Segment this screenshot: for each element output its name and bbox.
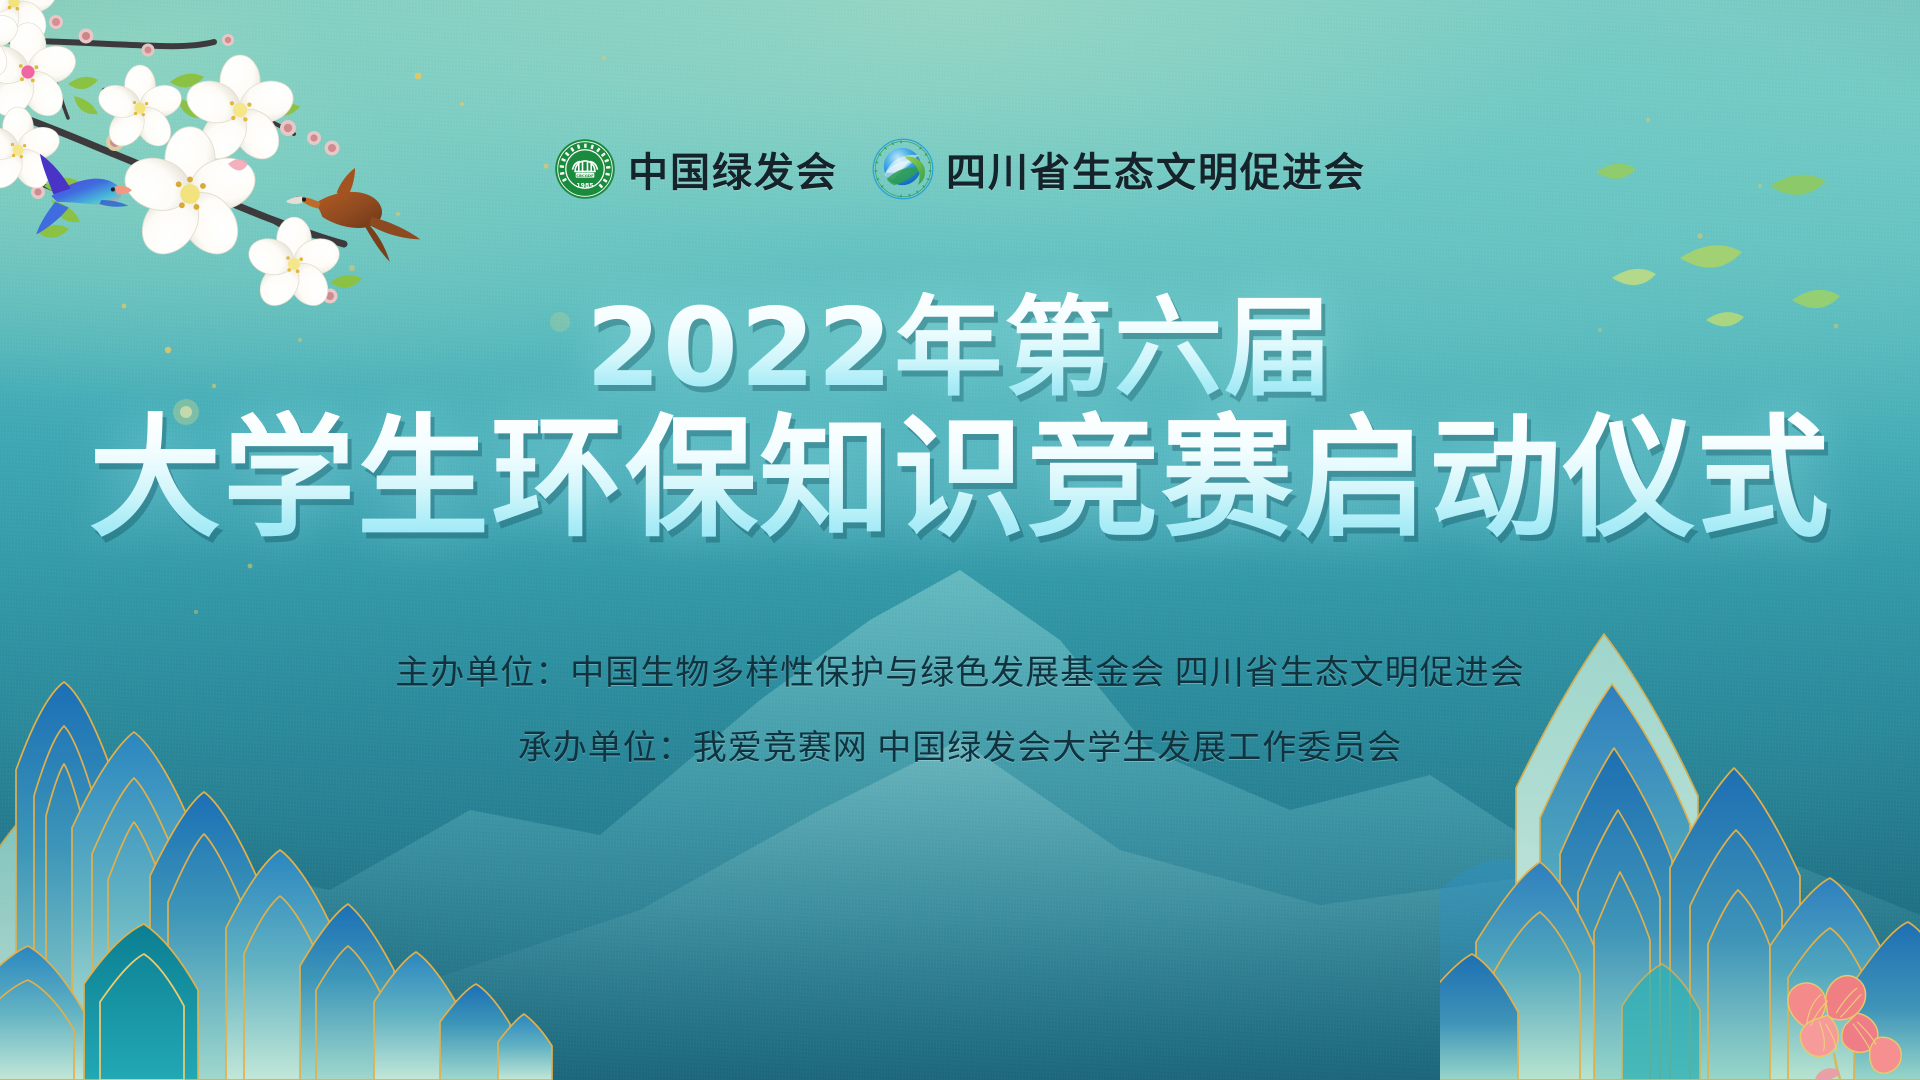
organization-name-label: 四川省生态文明促进会 [946, 140, 1366, 198]
sichuan-eco-civilization-logo-icon [872, 138, 934, 200]
misty-center-peak [0, 560, 1920, 1080]
svg-text:1985: 1985 [576, 183, 593, 190]
svg-text:CBCGDF: CBCGDF [576, 173, 594, 178]
cbcgdf-seal-logo-icon: CBCGDF 1985 [554, 138, 616, 200]
organization-name-label: 中国绿发会 [628, 140, 838, 198]
organization-cbcgdf: CBCGDF 1985 中国绿发会 [554, 138, 838, 200]
title-line-2: 大学生环保知识竞赛启动仪式 [0, 410, 1920, 550]
host-organizations-line: 主办单位：中国生物多样性保护与绿色发展基金会 四川省生态文明促进会 [0, 645, 1920, 694]
poster-title: 2022年第六届 大学生环保知识竞赛启动仪式 [0, 292, 1920, 550]
co-organizers-line: 承办单位：我爱竞赛网 中国绿发会大学生发展工作委员会 [0, 720, 1920, 769]
poster-canvas: CBCGDF 1985 中国绿发会 [0, 0, 1920, 1080]
pink-lotus-flower [1788, 976, 1901, 1080]
organization-sichuan-eco: 四川省生态文明促进会 [872, 138, 1366, 200]
organizer-credits: 主办单位：中国生物多样性保护与绿色发展基金会 四川省生态文明促进会 承办单位：我… [0, 645, 1920, 769]
organizer-logo-row: CBCGDF 1985 中国绿发会 [0, 138, 1920, 200]
title-line-1: 2022年第六届 [0, 292, 1920, 406]
